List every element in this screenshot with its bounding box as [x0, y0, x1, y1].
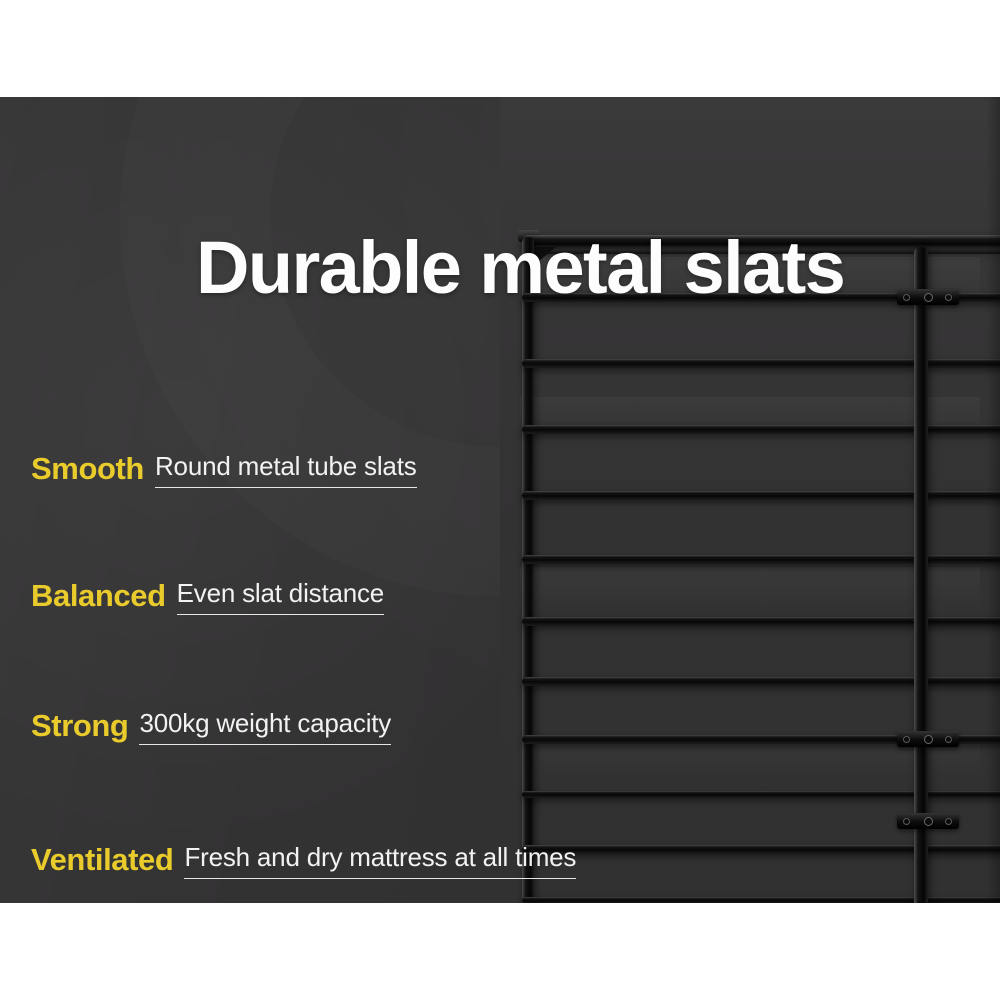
- metal-slat: [522, 359, 1000, 368]
- page-title: Durable metal slats: [196, 231, 844, 305]
- metal-slat: [522, 897, 1000, 903]
- feature-label: Smooth: [31, 453, 144, 484]
- feature-description: Fresh and dry mattress at all times: [184, 844, 576, 879]
- metal-slat: [522, 555, 1000, 564]
- dark-promo-panel: Durable metal slats Smooth Round metal t…: [0, 97, 1000, 903]
- metal-slat: [522, 491, 1000, 500]
- bolt-icon: [924, 735, 933, 744]
- slat-bracket: [897, 731, 959, 747]
- metal-slat: [522, 845, 1000, 854]
- feature-description: Even slat distance: [177, 580, 384, 615]
- feature-description: 300kg weight capacity: [139, 710, 391, 745]
- bolt-icon: [903, 736, 910, 743]
- promo-banner-page: Durable metal slats Smooth Round metal t…: [0, 0, 1000, 1000]
- bolt-icon: [945, 294, 952, 301]
- feature-item-balanced: Balanced Even slat distance: [31, 580, 384, 615]
- feature-item-smooth: Smooth Round metal tube slats: [31, 453, 417, 488]
- frame-left-post: [522, 237, 534, 903]
- bolt-icon: [924, 817, 933, 826]
- feature-item-strong: Strong 300kg weight capacity: [31, 710, 391, 745]
- metal-slat: [522, 791, 1000, 798]
- feature-label: Ventilated: [31, 844, 173, 875]
- slat-bracket: [897, 813, 959, 829]
- feature-label: Strong: [31, 710, 128, 741]
- metal-slat: [522, 617, 1000, 626]
- product-photo-bed-frame: [500, 97, 1000, 903]
- bolt-icon: [903, 294, 910, 301]
- metal-slat: [522, 677, 1000, 686]
- bolt-icon: [945, 736, 952, 743]
- bolt-icon: [924, 293, 933, 302]
- feature-description: Round metal tube slats: [155, 453, 417, 488]
- feature-item-ventilated: Ventilated Fresh and dry mattress at all…: [31, 844, 576, 879]
- feature-label: Balanced: [31, 580, 166, 611]
- bolt-icon: [903, 818, 910, 825]
- frame-center-support-rail: [914, 247, 928, 903]
- metal-slat: [522, 425, 1000, 434]
- bolt-icon: [945, 818, 952, 825]
- slat-bracket: [897, 289, 959, 305]
